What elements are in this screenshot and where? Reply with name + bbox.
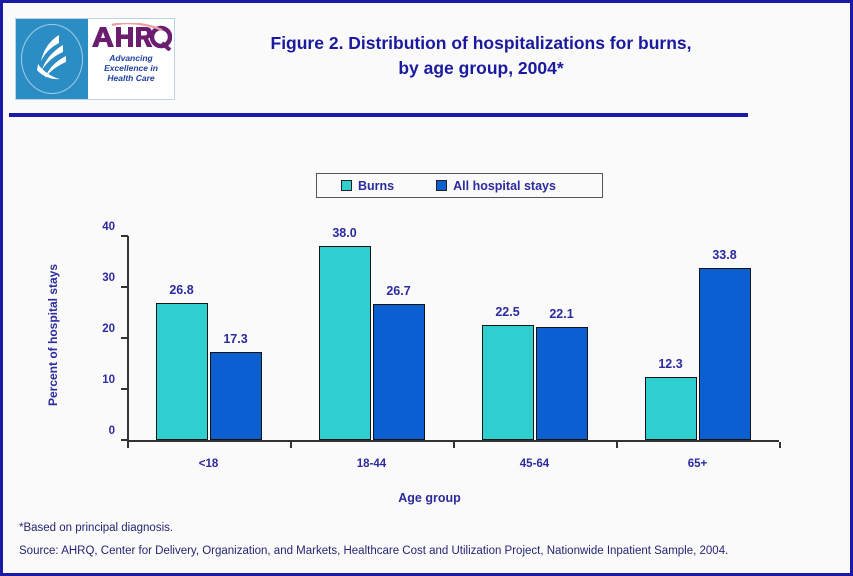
x-axis-tick — [127, 442, 129, 448]
y-axis-title: Percent of hospital stays — [46, 245, 60, 425]
legend-item-all-hospital-stays: All hospital stays — [436, 179, 556, 193]
x-axis-tick — [290, 442, 292, 448]
header-divider — [9, 113, 748, 117]
x-axis-tick — [779, 442, 781, 448]
y-axis-tick-label: 30 — [89, 272, 115, 284]
hhs-seal-icon — [16, 19, 88, 99]
bar-value-label: 22.1 — [532, 307, 592, 321]
ahrq-wordmark-icon — [90, 23, 172, 51]
figure-title-line1: Figure 2. Distribution of hospitalizatio… — [181, 31, 781, 56]
bar-all-hospital-stays-45-64 — [536, 327, 588, 440]
source-note: Source: AHRQ, Center for Delivery, Organ… — [19, 545, 728, 557]
bar-all-hospital-stays-18-44 — [373, 304, 425, 440]
bar-burns-45-64 — [482, 325, 534, 440]
bar-value-label: 22.5 — [478, 305, 538, 319]
ahrq-tagline-line3: Health Care — [104, 73, 158, 83]
x-axis-title: Age group — [3, 491, 853, 505]
x-axis-category-label: 18-44 — [312, 458, 432, 470]
x-axis-category-label: 45-64 — [475, 458, 595, 470]
legend-swatch-all-hospital-stays — [436, 180, 447, 191]
figure-title-line2: by age group, 2004* — [181, 56, 781, 81]
y-axis-tick-label: 0 — [89, 425, 115, 437]
bar-all-hospital-stays-<18 — [210, 352, 262, 440]
legend-swatch-burns — [341, 180, 352, 191]
figure-page: Advancing Excellence in Health Care Figu… — [0, 0, 853, 576]
bar-value-label: 26.7 — [369, 284, 429, 298]
bar-value-label: 26.8 — [152, 283, 212, 297]
hhs-bird-icon — [29, 31, 77, 87]
ahrq-tagline-line2: Excellence in — [104, 63, 158, 73]
plot-area: 26.817.338.026.722.522.112.333.8 — [127, 236, 779, 440]
figure-title: Figure 2. Distribution of hospitalizatio… — [181, 31, 781, 81]
ahrq-tagline-line1: Advancing — [104, 53, 158, 63]
x-axis-category-label: 65+ — [638, 458, 758, 470]
chart-legend: Burns All hospital stays — [316, 173, 603, 198]
y-axis-tick — [121, 439, 128, 441]
x-axis-tick — [616, 442, 618, 448]
bar-burns-18-44 — [319, 246, 371, 440]
y-axis-line — [127, 236, 129, 441]
bar-value-label: 38.0 — [315, 226, 375, 240]
legend-label-burns: Burns — [358, 179, 394, 193]
y-axis-tick-label: 20 — [89, 323, 115, 335]
bar-value-label: 17.3 — [206, 332, 266, 346]
x-axis-category-label: <18 — [149, 458, 269, 470]
bar-burns-65+ — [645, 377, 697, 440]
y-axis-tick-label: 40 — [89, 221, 115, 233]
y-axis-tick — [121, 337, 128, 339]
legend-label-all-hospital-stays: All hospital stays — [453, 179, 556, 193]
y-axis-tick — [121, 235, 128, 237]
bar-value-label: 12.3 — [641, 357, 701, 371]
x-axis-line — [127, 440, 779, 442]
x-axis-tick — [453, 442, 455, 448]
y-axis-tick — [121, 286, 128, 288]
ahrq-tagline: Advancing Excellence in Health Care — [104, 53, 158, 83]
figure-header: Advancing Excellence in Health Care Figu… — [3, 3, 850, 111]
bar-all-hospital-stays-65+ — [699, 268, 751, 440]
y-axis-tick-label: 10 — [89, 374, 115, 386]
y-axis-tick — [121, 388, 128, 390]
bar-burns-<18 — [156, 303, 208, 440]
legend-item-burns: Burns — [341, 179, 394, 193]
ahrq-logo: Advancing Excellence in Health Care — [15, 18, 175, 100]
ahrq-wordmark-block: Advancing Excellence in Health Care — [88, 19, 174, 99]
bar-value-label: 33.8 — [695, 248, 755, 262]
footnote: *Based on principal diagnosis. — [19, 522, 173, 534]
